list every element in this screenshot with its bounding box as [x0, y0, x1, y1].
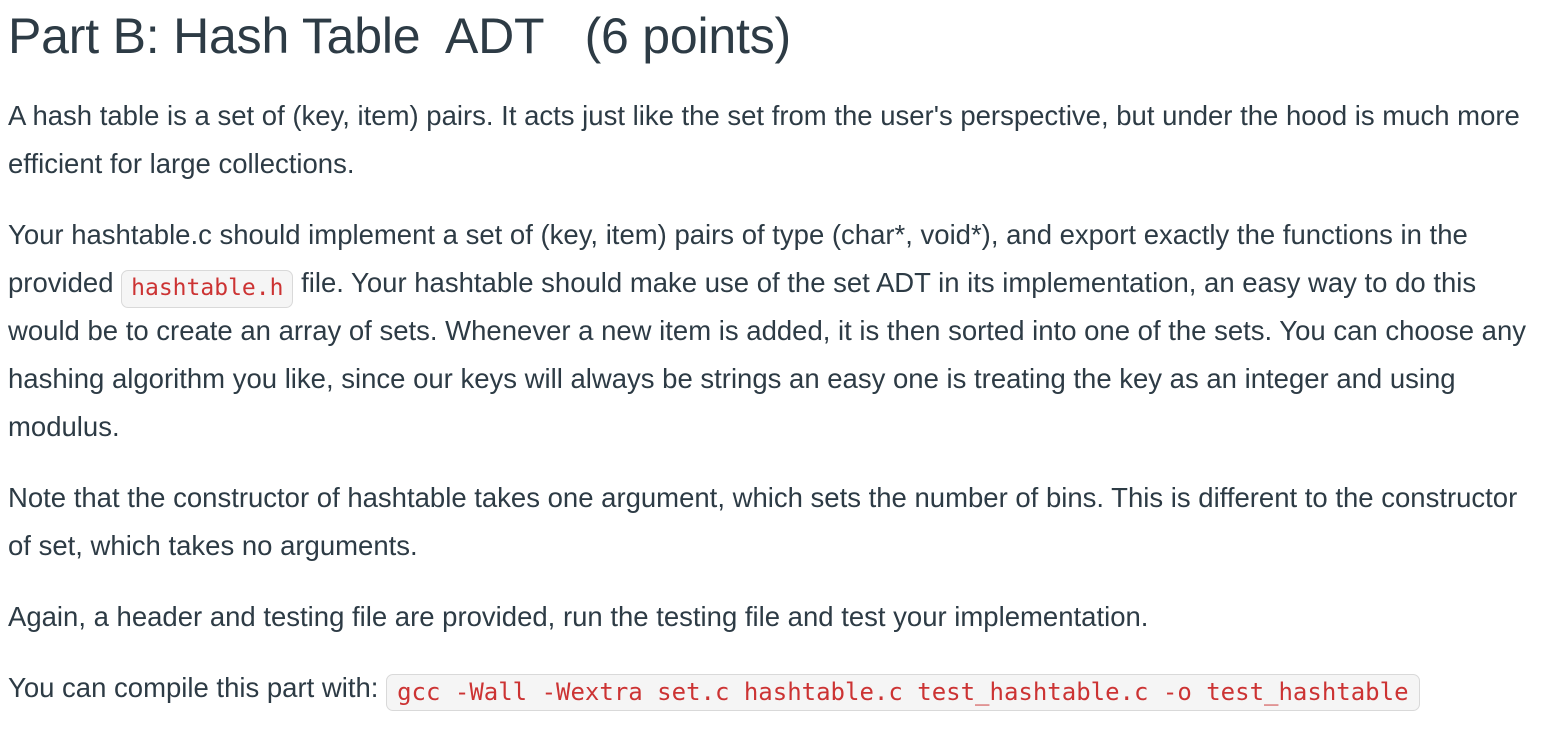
paragraph-testing-note: Again, a header and testing file are pro… — [8, 593, 1542, 641]
paragraph-compile: You can compile this part with: gcc -Wal… — [8, 664, 1542, 712]
inline-code-hashtable-h: hashtable.h — [121, 270, 293, 308]
paragraph-constructor-note: Note that the constructor of hashtable t… — [8, 474, 1542, 570]
compile-label: You can compile this part with: — [8, 672, 386, 703]
paragraph-requirements: Your hashtable.c should implement a set … — [8, 211, 1542, 451]
page-title: Part B: Hash Table ADT (6 points) — [8, 6, 1542, 66]
inline-code-compile-command: gcc -Wall -Wextra set.c hashtable.c test… — [386, 674, 1419, 711]
document-page: Part B: Hash Table ADT (6 points) A hash… — [0, 0, 1552, 756]
paragraph-intro: A hash table is a set of (key, item) pai… — [8, 92, 1542, 188]
